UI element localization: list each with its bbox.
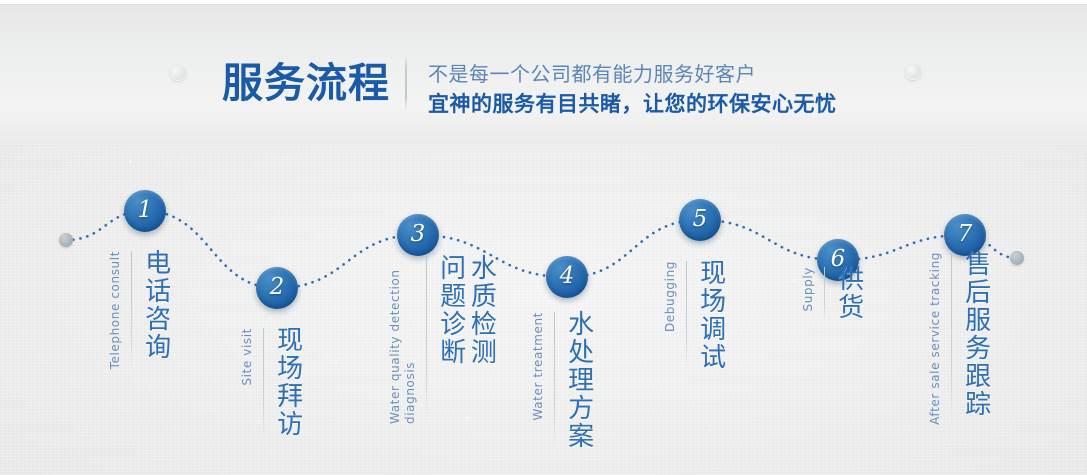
flow-label-divider xyxy=(686,261,687,371)
flow-label-english-4: Water treatment xyxy=(531,312,546,421)
flow-node-1[interactable]: 1 xyxy=(124,190,166,232)
flow-label-english-7: After sale service tracking xyxy=(928,252,943,425)
flow-label-5: Debugging现场调试 xyxy=(663,259,726,371)
flow-label-divider xyxy=(131,251,132,369)
flow-node-number: 7 xyxy=(958,223,973,248)
flow-label-chinese-4: 水处理方案 xyxy=(563,310,594,450)
flow-label-chinese-col: 电话咨询 xyxy=(140,249,171,361)
flow-label-divider xyxy=(263,328,264,438)
flow-label-divider xyxy=(824,267,825,321)
flow-label-english-1: Telephone consult xyxy=(108,251,123,369)
flow-label-chinese-col: 水处理方案 xyxy=(563,310,594,450)
flow-label-3: Water quality detection diagnosis水质检测问题诊… xyxy=(388,254,496,424)
flow-node-number: 2 xyxy=(270,276,285,301)
flow-label-divider xyxy=(426,256,427,424)
flow-label-chinese-1: 电话咨询 xyxy=(140,249,171,361)
flow-node-number: 1 xyxy=(138,199,153,224)
flow-label-chinese-col: 问题诊断 xyxy=(435,254,466,366)
dotted-connector xyxy=(66,211,1017,288)
flow-label-chinese-5: 现场调试 xyxy=(695,259,726,371)
flow-label-english-2: Site visit xyxy=(240,328,255,386)
flow-label-chinese-3: 水质检测问题诊断 xyxy=(435,254,496,366)
flow-label-divider xyxy=(951,252,952,425)
start-dot xyxy=(59,233,73,247)
end-dot xyxy=(1010,251,1024,265)
flow-label-7: After sale service tracking售后服务跟踪 xyxy=(928,250,991,425)
flow-label-chinese-6: 供货 xyxy=(833,265,864,321)
flow-label-english-3: Water quality detection diagnosis xyxy=(388,256,418,424)
flow-node-number: 3 xyxy=(411,223,426,248)
flow-label-4: Water treatment水处理方案 xyxy=(531,310,594,450)
flow-node-2[interactable]: 2 xyxy=(256,267,298,309)
flow-node-number: 4 xyxy=(560,265,575,290)
flow-node-number: 5 xyxy=(693,208,708,233)
flow-node-5[interactable]: 5 xyxy=(679,199,721,241)
flow-label-chinese-2: 现场拜访 xyxy=(272,326,303,438)
flow-label-divider xyxy=(554,312,555,450)
flow-label-chinese-7: 售后服务跟踪 xyxy=(960,250,991,418)
flow-label-english-6: Supply xyxy=(801,267,816,312)
service-process-banner: 服务流程 不是每一个公司都有能力服务好客户 宜神的服务有目共睹，让您的环保安心无… xyxy=(0,0,1087,475)
flow-label-6: Supply供货 xyxy=(801,265,864,321)
flow-label-chinese-col: 现场调试 xyxy=(695,259,726,371)
flow-label-2: Site visit现场拜访 xyxy=(240,326,303,438)
flow-label-english-5: Debugging xyxy=(663,261,678,332)
flow-label-chinese-col: 供货 xyxy=(833,265,864,321)
flow-label-chinese-col: 水质检测 xyxy=(466,254,497,366)
flow-node-3[interactable]: 3 xyxy=(397,214,439,256)
flow-node-4[interactable]: 4 xyxy=(546,256,588,298)
flow-label-chinese-col: 售后服务跟踪 xyxy=(960,250,991,418)
flow-label-1: Telephone consult电话咨询 xyxy=(108,249,171,369)
flow-label-chinese-col: 现场拜访 xyxy=(272,326,303,438)
